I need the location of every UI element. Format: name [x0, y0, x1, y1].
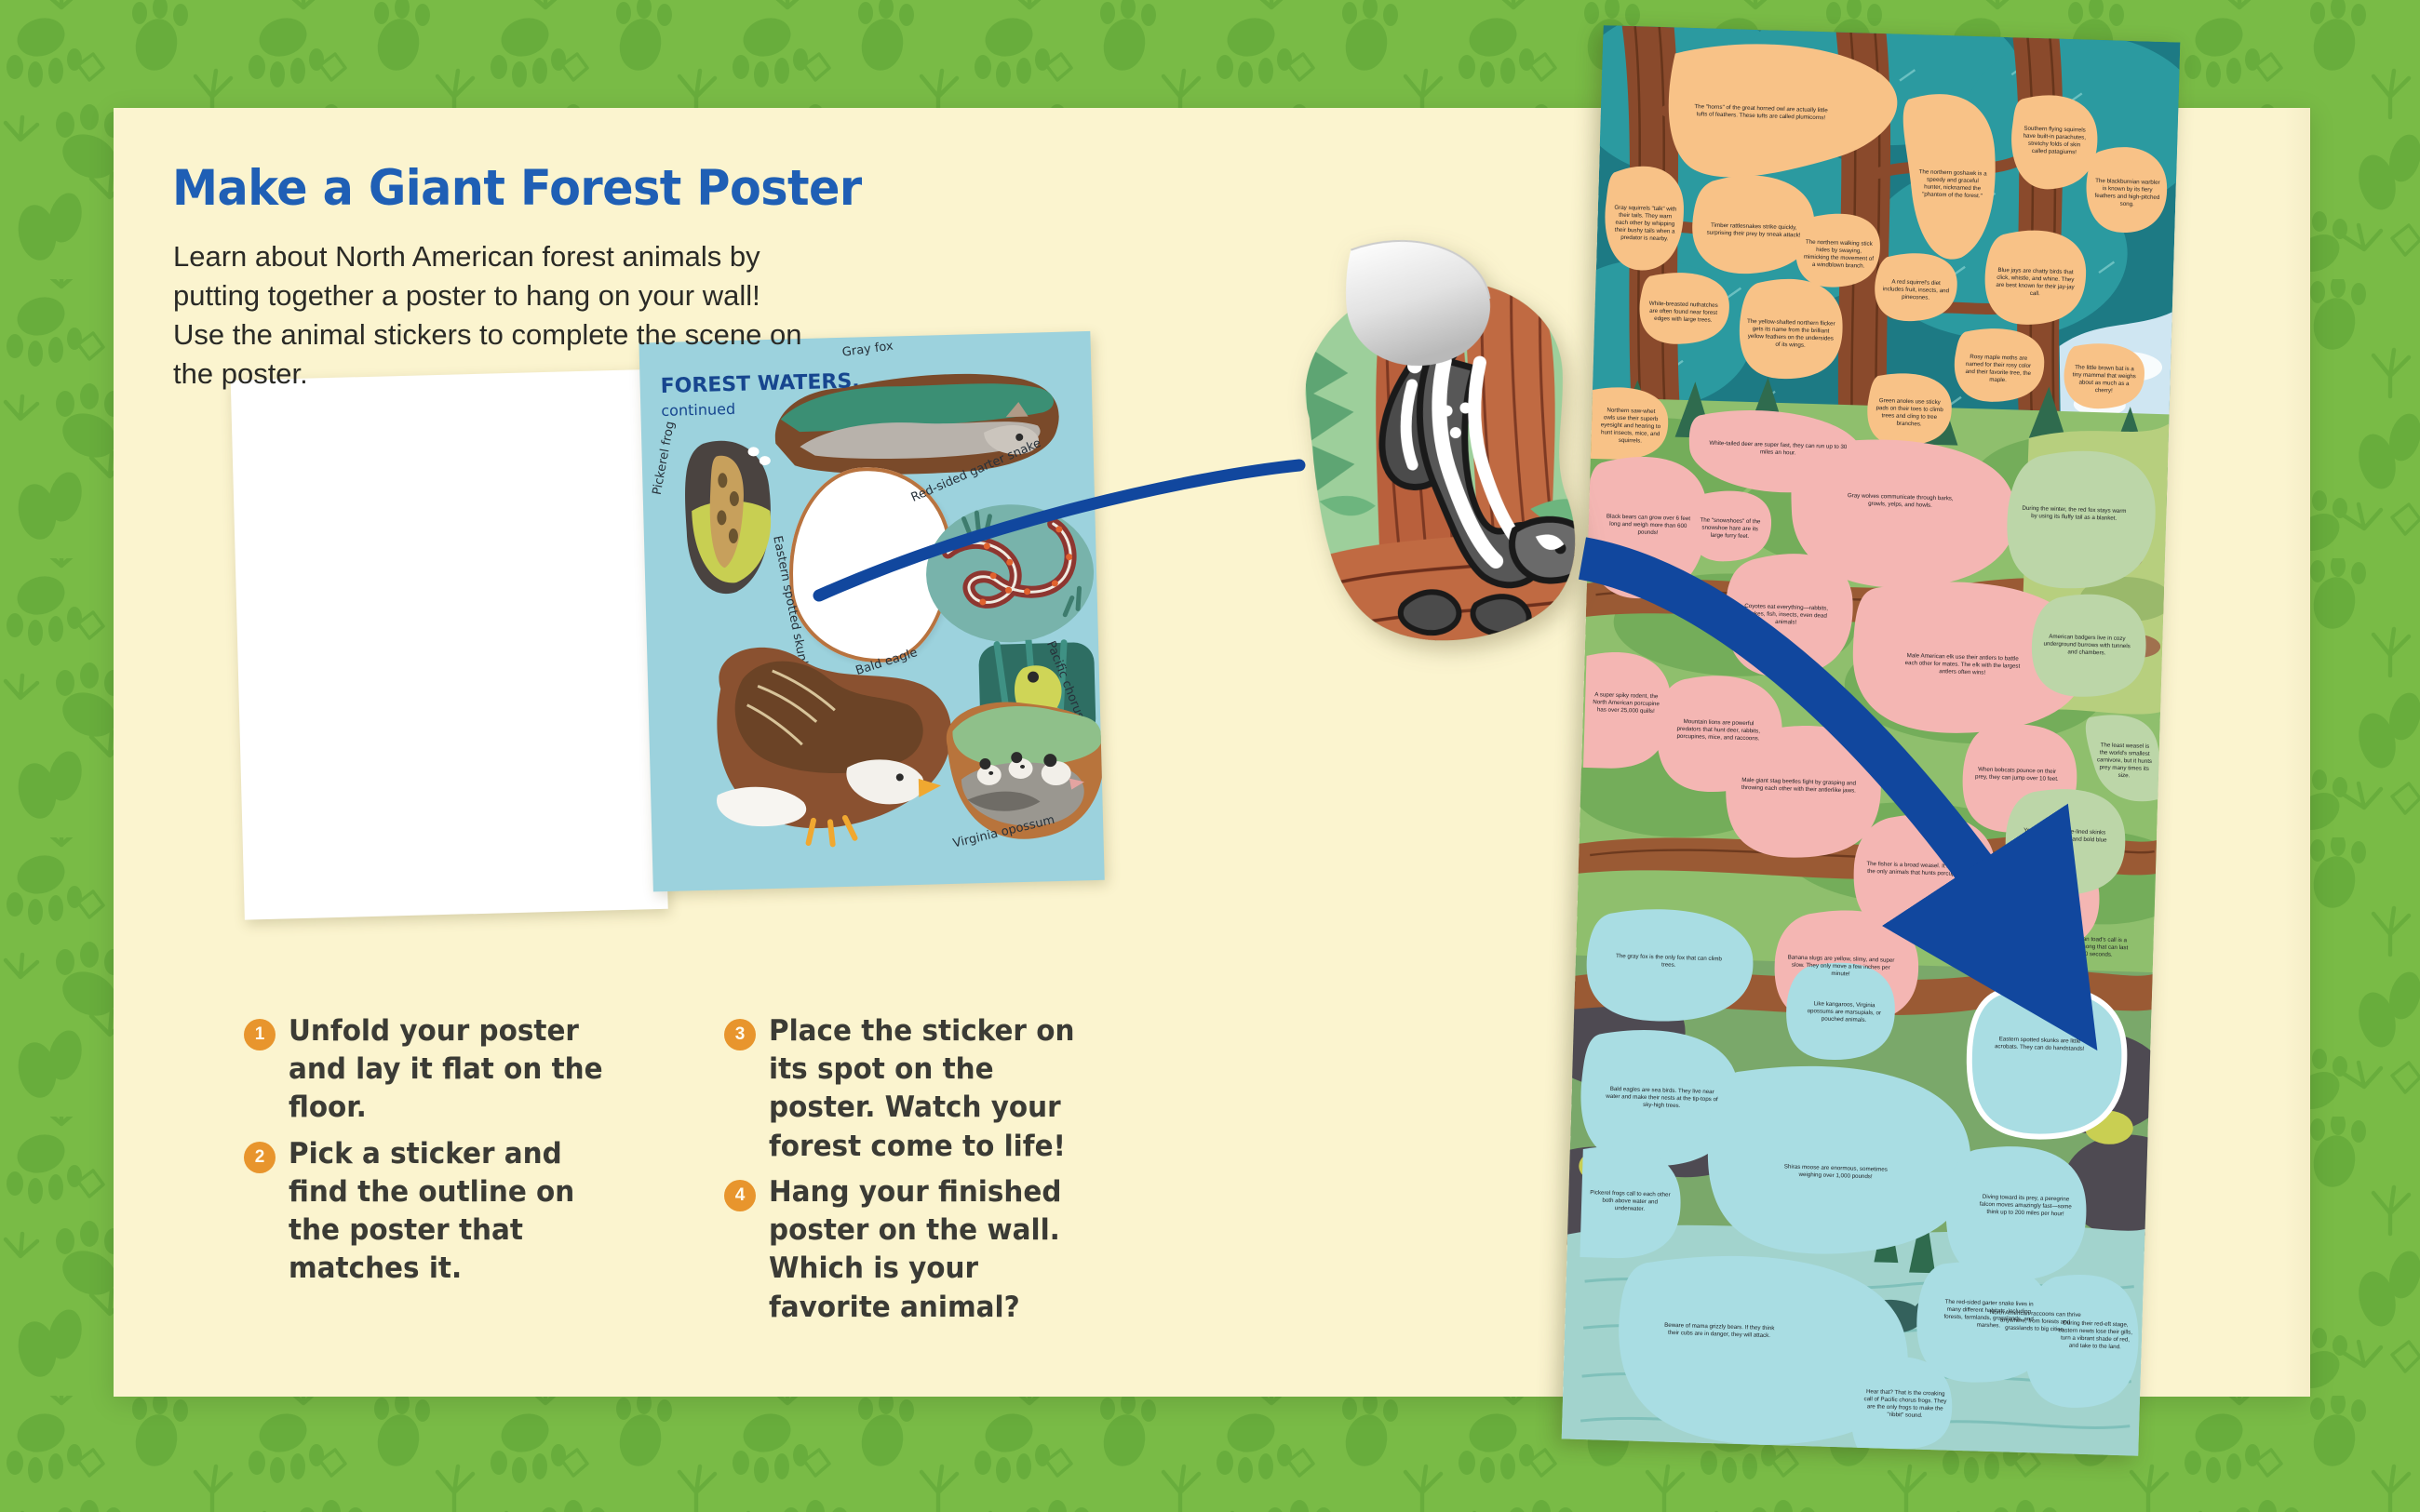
instruction-steps-column-right: 3 Place the sticker on its spot on the p… — [724, 1012, 1104, 1327]
instruction-steps-column-left: 1 Unfold your poster and lay it flat on … — [244, 1012, 624, 1327]
fact-bubble: The red-sided garter snake lives in many… — [1935, 1275, 2043, 1354]
fact-bubble: The "snowshoes" of the snowshoe hare are… — [1690, 499, 1770, 558]
step-text: Place the sticker on its spot on the pos… — [769, 1012, 1087, 1166]
fact-bubble: The yellow-shafted northern flicker gets… — [1741, 292, 1842, 377]
fact-bubble: A red squirrel's diet includes fruit, in… — [1876, 262, 1956, 318]
sticker-pickerel-frog[interactable] — [675, 431, 786, 601]
step-text: Unfold your poster and lay it flat on th… — [289, 1012, 607, 1128]
fact-bubble: Pickerel frogs call to each other both a… — [1582, 1171, 1677, 1232]
fact-bubble: The least weasel is the world's smallest… — [2091, 729, 2158, 794]
fact-bubble: Gray squirrels "talk" with their tails. … — [1607, 181, 1683, 265]
fact-bubble: White-breasted nuthatches are often foun… — [1639, 283, 1728, 341]
fact-bubble: Hear that? That is the croaking call of … — [1858, 1366, 1953, 1443]
intro-paragraph: Learn about North American forest animal… — [173, 237, 815, 395]
step-text: Hang your finished poster on the wall. W… — [769, 1173, 1087, 1327]
page-title: Make a Giant Forest Poster — [172, 160, 862, 217]
fact-bubble: The "horns" of the great horned owl are … — [1686, 69, 1837, 157]
fact-bubble: The gray fox is the only fox that can cl… — [1603, 934, 1735, 990]
step-number: 3 — [724, 1019, 756, 1050]
fact-bubble: The blackburnian warbler is known by its… — [2089, 157, 2165, 230]
fact-bubble: Diving toward its prey, a peregrine falc… — [1970, 1164, 2081, 1247]
fact-bubble: The fisher is a broad weasel. It is one … — [1857, 832, 1978, 908]
fact-bubble: The American toad's call is a bold, tril… — [2045, 917, 2136, 978]
instruction-step: 4 Hang your finished poster on the wall.… — [724, 1173, 1104, 1327]
fact-bubble: Green anoles use sticky pads on their to… — [1869, 383, 1951, 444]
sticker-label-pickerel-frog: Pickerel frog — [651, 421, 678, 496]
fact-bubble: When bobcats pounce on their prey, they … — [1966, 742, 2068, 808]
sticker-book-right-page: FOREST WATERS, continued Gray fox Picker… — [639, 331, 1104, 891]
fact-bubble: During their red-eft stage, eastern newt… — [2051, 1290, 2140, 1382]
instruction-step: 3 Place the sticker on its spot on the p… — [724, 1012, 1104, 1166]
fact-bubble: Shiras moose are enormous, sometimes wei… — [1769, 1136, 1902, 1209]
fact-bubble: Beware of mama grizzly bears. If they th… — [1657, 1295, 1781, 1368]
fact-bubble: Male American elk use their antlers to b… — [1896, 624, 2028, 706]
sticker-sheet-heading-sub: continued — [661, 400, 735, 420]
fact-bubble: Bald eagles are sea birds. They live nea… — [1598, 1057, 1725, 1141]
sticker-book[interactable]: FOREST WATERS, continued Gray fox Picker… — [224, 327, 1115, 943]
fact-bubble: The northern goshawk is a speedy and gra… — [1912, 137, 1993, 232]
step-text: Pick a sticker and find the outline on t… — [289, 1135, 607, 1289]
instruction-step: 2 Pick a sticker and find the outline on… — [244, 1135, 624, 1289]
step-number: 4 — [724, 1180, 756, 1211]
forest-poster[interactable]: The "horns" of the great horned owl are … — [1562, 25, 2181, 1456]
fact-bubble: The northern walking stick hides by sway… — [1797, 222, 1881, 287]
fact-bubble: Young common five-lined skinks have yell… — [2012, 805, 2117, 875]
instruction-steps: 1 Unfold your poster and lay it flat on … — [244, 1012, 1104, 1327]
fact-bubble: Eastern spotted skunks are little acroba… — [1987, 1009, 2091, 1080]
fact-bubble: White-tailed deer are super fast, they c… — [1703, 420, 1852, 480]
fact-bubble: American badgers live in cozy undergroun… — [2037, 611, 2137, 679]
sticker-book-left-page — [231, 369, 668, 920]
fact-bubble: Gray wolves communicate through barks, g… — [1842, 474, 1959, 529]
fact-bubble: Southern flying squirrels have built-in … — [2016, 100, 2092, 181]
step-number: 2 — [244, 1142, 276, 1173]
fact-bubble: The little brown bat is a tiny mammal th… — [2065, 352, 2144, 408]
fact-bubble: Male giant stag beetles fight by graspin… — [1732, 744, 1864, 828]
fact-bubble: Rosy maple moths are named for their ros… — [1956, 340, 2041, 400]
fact-bubble: Coyotes eat everything—rabbits, snakes, … — [1730, 581, 1842, 650]
step-number: 1 — [244, 1019, 276, 1050]
fact-bubble: Blue jays are chatty birds that click, w… — [1987, 244, 2082, 323]
instruction-step: 1 Unfold your poster and lay it flat on … — [244, 1012, 624, 1128]
fact-bubble: During the winter, the red fox stays war… — [2012, 473, 2135, 555]
fact-bubble: Like kangaroos, Virginia opossums are ma… — [1795, 979, 1893, 1047]
peeled-sticker-eastern-spotted-skunk[interactable] — [1246, 225, 1633, 718]
fact-bubble: Timber rattlesnakes strike quickly, surp… — [1699, 194, 1808, 267]
